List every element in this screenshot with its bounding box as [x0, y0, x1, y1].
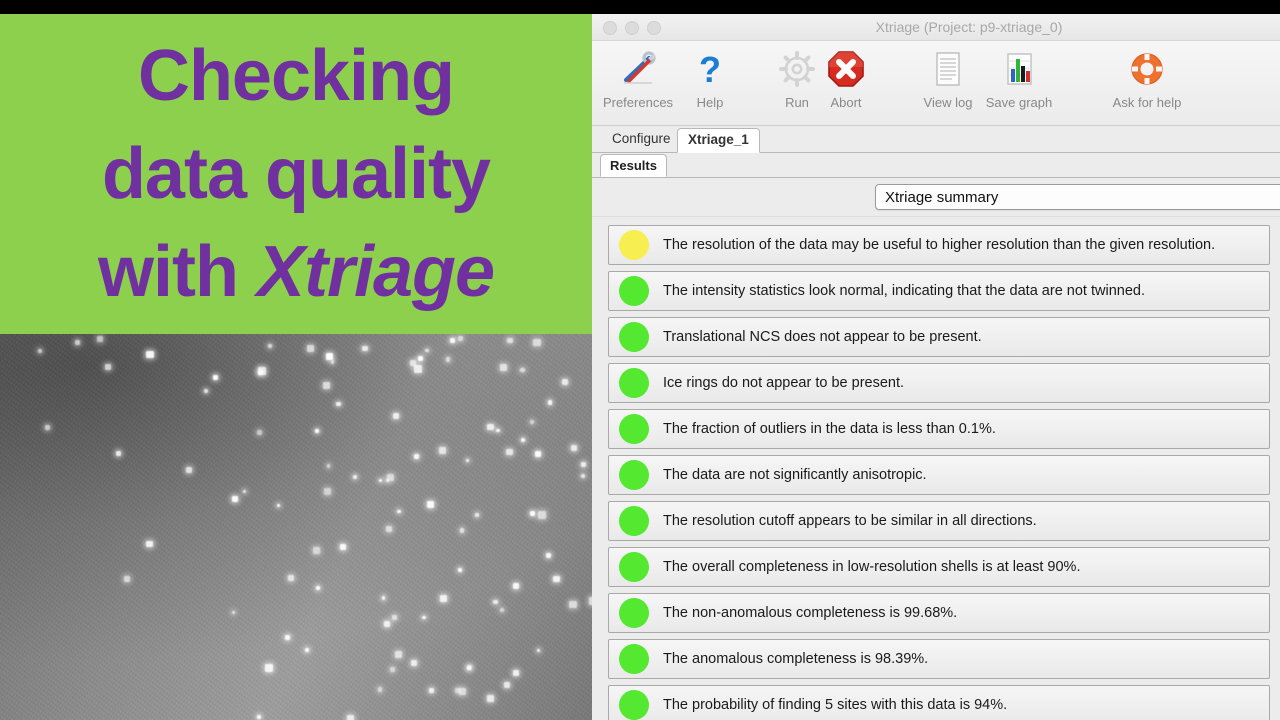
diffraction-spot	[521, 438, 525, 442]
diffraction-spot	[581, 474, 585, 478]
diffraction-spot	[500, 364, 508, 372]
diffraction-spot	[327, 464, 331, 468]
status-indicator-green-icon	[619, 598, 649, 628]
diffraction-spot	[504, 682, 510, 688]
diffraction-spot	[538, 511, 546, 519]
result-text: The fraction of outliers in the data is …	[663, 421, 996, 437]
diffraction-spot	[232, 611, 235, 614]
window-titlebar: Xtriage (Project: p9-xtriage_0)	[592, 14, 1280, 41]
diffraction-spot	[146, 351, 153, 358]
result-row[interactable]: The probability of finding 5 sites with …	[608, 685, 1270, 720]
diffraction-spot	[336, 402, 341, 407]
abort-octagon-icon	[800, 45, 892, 93]
diffraction-spot	[520, 368, 525, 373]
toolbar-label-abort: Abort	[800, 95, 892, 110]
life-ring-icon	[1101, 45, 1193, 93]
toolbar-button-help[interactable]: ? Help	[664, 45, 756, 110]
diffraction-spot	[124, 576, 131, 583]
result-text: The probability of finding 5 sites with …	[663, 697, 1007, 713]
diffraction-spot	[546, 553, 551, 558]
diffraction-spot	[186, 467, 192, 473]
tab-configure[interactable]: Configure	[602, 128, 681, 150]
result-text: Translational NCS does not appear to be …	[663, 329, 982, 345]
status-indicator-green-icon	[619, 276, 649, 306]
results-list: The resolution of the data may be useful…	[592, 217, 1280, 720]
toolbar-label-ask-for-help: Ask for help	[1101, 95, 1193, 110]
main-toolbar: Preferences ? Help	[592, 41, 1280, 126]
diffraction-spot	[347, 715, 355, 720]
diffraction-spot	[427, 501, 434, 508]
diffraction-spot	[569, 601, 577, 609]
diffraction-spot	[422, 616, 425, 619]
status-indicator-green-icon	[619, 506, 649, 536]
status-indicator-green-icon	[619, 552, 649, 582]
result-row[interactable]: Ice rings do not appear to be present.	[608, 363, 1270, 403]
diffraction-spot	[533, 339, 541, 347]
diffraction-spot	[458, 336, 463, 341]
diffraction-spot	[362, 346, 367, 351]
toolbar-button-save-graph[interactable]: Save graph	[973, 45, 1065, 110]
diffraction-spot	[97, 336, 104, 343]
toolbar-button-abort[interactable]: Abort	[800, 45, 892, 110]
diffraction-spot	[553, 576, 559, 582]
diffraction-spot	[466, 459, 469, 462]
diffraction-spot	[313, 547, 320, 554]
tab-xtriage-1[interactable]: Xtriage_1	[677, 128, 760, 153]
diffraction-spot	[460, 528, 465, 533]
diffraction-spot	[257, 430, 262, 435]
results-content: Xtriage summary The resolution of the da…	[592, 178, 1280, 720]
diffraction-spot	[386, 526, 392, 532]
diffraction-spot	[414, 365, 422, 373]
diffraction-spot	[487, 424, 494, 431]
diffraction-spot	[204, 389, 207, 392]
diffraction-spot	[38, 349, 42, 353]
diffraction-spot	[213, 375, 218, 380]
diffraction-spot	[418, 356, 423, 361]
result-text: The resolution cutoff appears to be simi…	[663, 513, 1037, 529]
diffraction-spot	[513, 583, 519, 589]
diffraction-spot	[232, 496, 237, 501]
summary-select-row: Xtriage summary	[592, 178, 1280, 217]
diffraction-spot	[439, 447, 446, 454]
slide-title-card: Checking data quality with Xtriage	[0, 14, 592, 334]
result-text: The anomalous completeness is 98.39%.	[663, 651, 928, 667]
diffraction-spot	[340, 544, 346, 550]
diffraction-spot	[258, 367, 266, 375]
result-text: The overall completeness in low-resoluti…	[663, 559, 1080, 575]
diffraction-spot	[506, 449, 513, 456]
result-row[interactable]: Translational NCS does not appear to be …	[608, 317, 1270, 357]
status-indicator-green-icon	[619, 322, 649, 352]
diffraction-spot	[146, 541, 152, 547]
diffraction-spot	[105, 364, 111, 370]
diffraction-spot	[378, 687, 382, 691]
slide-title-xtriage-word: Xtriage	[257, 232, 494, 312]
slide-title-line-3: with Xtriage	[98, 223, 494, 321]
status-indicator-green-icon	[619, 414, 649, 444]
slide-title-with-word: with	[98, 232, 257, 312]
diffraction-spot	[288, 575, 294, 581]
diffraction-spot	[487, 695, 494, 702]
status-indicator-yellow-icon	[619, 230, 649, 260]
result-text: The intensity statistics look normal, in…	[663, 283, 1145, 299]
diffraction-spot	[467, 666, 471, 670]
x-ray-diffraction-image	[0, 334, 592, 720]
window-title: Xtriage (Project: p9-xtriage_0)	[592, 19, 1280, 35]
diffraction-spot	[307, 345, 314, 352]
diffraction-spot	[475, 513, 479, 517]
diffraction-spot	[257, 715, 261, 719]
diffraction-spot	[392, 615, 397, 620]
diffraction-spot	[411, 660, 417, 666]
question-mark-icon: ?	[664, 45, 756, 93]
result-text: The non-anomalous completeness is 99.68%…	[663, 605, 957, 621]
result-text: The resolution of the data may be useful…	[663, 237, 1215, 253]
diffraction-spot	[507, 338, 512, 343]
diffraction-spot	[116, 451, 121, 456]
result-row[interactable]: The data are not significantly anisotrop…	[608, 455, 1270, 495]
diffraction-spot	[393, 413, 399, 419]
slide-panel: Checking data quality with Xtriage	[0, 14, 592, 720]
diffraction-spot	[440, 595, 447, 602]
diffraction-spot	[535, 451, 541, 457]
result-row[interactable]: The resolution cutoff appears to be simi…	[608, 501, 1270, 541]
main-tabbar: Configure Xtriage_1	[592, 126, 1280, 153]
toolbar-button-ask-for-help[interactable]: Ask for help	[1101, 45, 1193, 110]
diffraction-spot	[446, 357, 450, 361]
diffraction-spot	[581, 462, 586, 467]
diffraction-spot	[384, 621, 390, 627]
result-row[interactable]: The intensity statistics look normal, in…	[608, 271, 1270, 311]
diffraction-spot	[75, 340, 80, 345]
diffraction-spot	[353, 475, 357, 479]
result-text: Ice rings do not appear to be present.	[663, 375, 904, 391]
diffraction-spot	[323, 382, 330, 389]
diffraction-spot	[548, 400, 552, 404]
result-row[interactable]: The resolution of the data may be useful…	[608, 225, 1270, 265]
slide-title-line-1: Checking	[138, 27, 454, 125]
diffraction-spot	[390, 667, 395, 672]
toolbar-label-help: Help	[664, 95, 756, 110]
svg-text:?: ?	[699, 49, 721, 89]
diffraction-spot	[395, 651, 402, 658]
diffraction-spot	[459, 688, 466, 695]
diffraction-noise-texture	[0, 334, 592, 720]
result-row[interactable]: The anomalous completeness is 98.39%.	[608, 639, 1270, 679]
diffraction-spot	[326, 353, 333, 360]
status-indicator-green-icon	[619, 690, 649, 720]
result-row[interactable]: The non-anomalous completeness is 99.68%…	[608, 593, 1270, 633]
diffraction-spot	[513, 670, 519, 676]
diffraction-spot	[382, 596, 386, 600]
toolbar-label-save-graph: Save graph	[973, 95, 1065, 110]
diffraction-spot	[450, 338, 455, 343]
diffraction-spot	[265, 664, 273, 672]
result-row[interactable]: The overall completeness in low-resoluti…	[608, 547, 1270, 587]
result-text: The data are not significantly anisotrop…	[663, 467, 927, 483]
sub-tabbar: Results	[592, 153, 1280, 178]
bar-chart-icon	[973, 45, 1065, 93]
diffraction-spot	[429, 688, 435, 694]
diffraction-spot	[45, 425, 50, 430]
screen-root: Checking data quality with Xtriage Xtria…	[0, 0, 1280, 720]
diffraction-spot	[324, 488, 331, 495]
diffraction-spot	[493, 600, 498, 605]
subtab-results[interactable]: Results	[600, 154, 667, 177]
status-indicator-green-icon	[619, 644, 649, 674]
diffraction-spot	[571, 445, 577, 451]
diffraction-spot	[285, 635, 290, 640]
xtriage-summary-select[interactable]: Xtriage summary	[875, 184, 1280, 210]
xtriage-app-window: Xtriage (Project: p9-xtriage_0) Preferen…	[592, 14, 1280, 720]
result-row[interactable]: The fraction of outliers in the data is …	[608, 409, 1270, 449]
slide-title-line-2: data quality	[102, 125, 490, 223]
status-indicator-green-icon	[619, 368, 649, 398]
diffraction-spot	[562, 379, 568, 385]
status-indicator-green-icon	[619, 460, 649, 490]
diffraction-spot	[425, 349, 428, 352]
